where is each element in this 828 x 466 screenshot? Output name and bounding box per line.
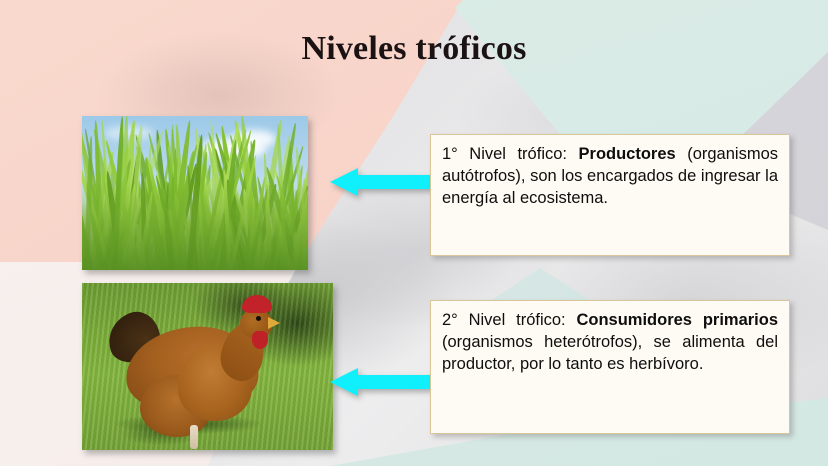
slide-canvas: Niveles tróficos 1° Nivel trófico: Produ…	[0, 0, 828, 466]
hen-leg	[190, 425, 198, 449]
consumer-text-body: (organismos heterótrofos), se alimenta d…	[442, 333, 778, 373]
consumer-text-emphasis: Consumidores primarios	[576, 311, 778, 329]
producer-image[interactable]	[82, 116, 308, 270]
left-arrow-icon-primary-consumers	[330, 368, 431, 396]
primary-consumer-image[interactable]	[82, 283, 333, 450]
hen-beak	[268, 317, 280, 329]
page-title: Niveles tróficos	[0, 30, 828, 68]
producer-textbox: 1° Nivel trófico: Productores (organismo…	[430, 134, 790, 256]
hen-wattle	[252, 331, 268, 349]
consumer-text-prefix: 2° Nivel trófico:	[442, 311, 576, 329]
producer-text-prefix: 1° Nivel trófico:	[442, 145, 579, 163]
producer-text-emphasis: Productores	[579, 145, 676, 163]
field-floor	[82, 181, 308, 270]
primary-consumer-textbox: 2° Nivel trófico: Consumidores primarios…	[430, 300, 790, 434]
left-arrow-icon-producers	[330, 168, 431, 196]
hen-comb	[242, 295, 272, 313]
hen-eye	[256, 316, 261, 321]
